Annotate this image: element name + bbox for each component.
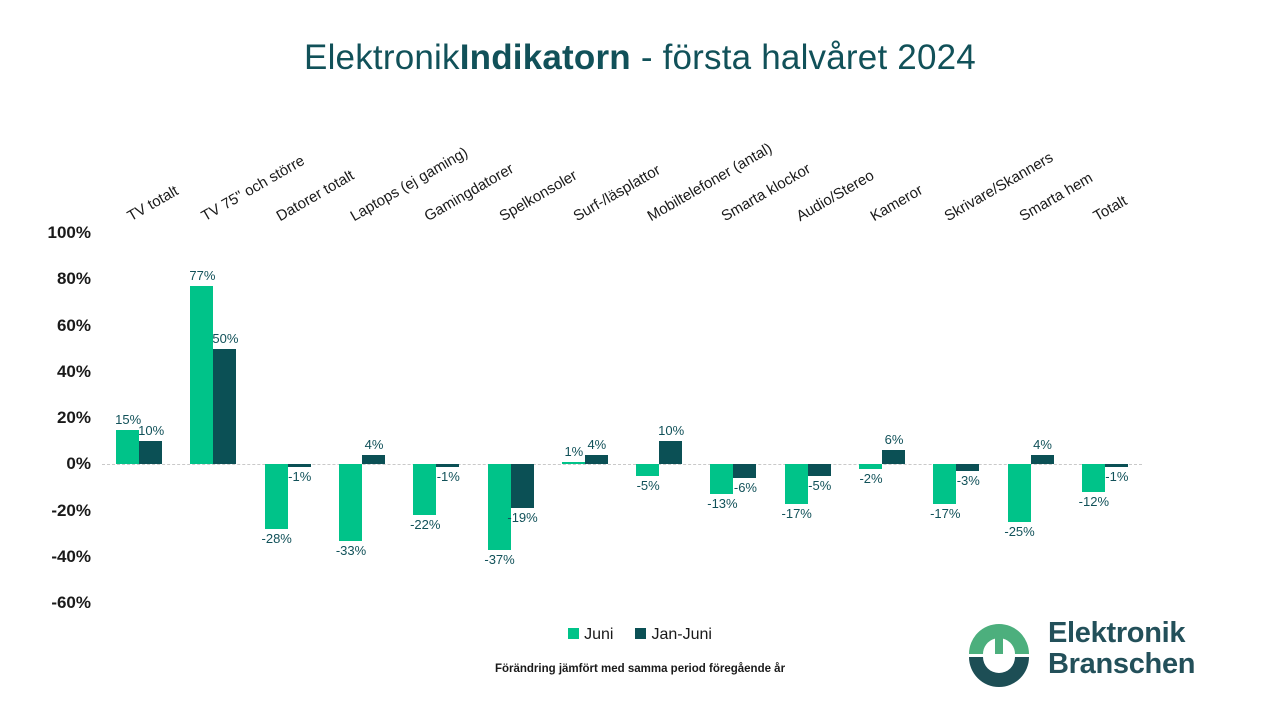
bar-group: -2%6% xyxy=(859,233,905,603)
bar-juni[interactable] xyxy=(1008,464,1031,522)
bar-value-label: 4% xyxy=(351,437,397,452)
bar-value-label: -1% xyxy=(1094,469,1140,484)
bar-value-label: -33% xyxy=(328,543,374,558)
bar-group: -37%-19% xyxy=(488,233,534,603)
bar-value-label: -17% xyxy=(922,506,968,521)
zero-baseline xyxy=(102,464,1142,465)
bar-jan-juni[interactable] xyxy=(139,441,162,464)
legend-swatch-icon xyxy=(635,628,646,639)
bar-value-label: 77% xyxy=(179,268,225,283)
bar-value-label: -17% xyxy=(774,506,820,521)
bar-group: -5%10% xyxy=(636,233,682,603)
bar-jan-juni[interactable] xyxy=(288,464,311,466)
y-axis-tick-label: -40% xyxy=(51,547,91,567)
chart-plot-area: 15%10%77%50%-28%-1%-33%4%-22%-1%-37%-19%… xyxy=(102,233,1142,603)
bar-value-label: -1% xyxy=(277,469,323,484)
bar-group: -17%-5% xyxy=(785,233,831,603)
logo-wordmark: Elektronik Branschen xyxy=(1048,618,1195,680)
bar-value-label: -37% xyxy=(477,552,523,567)
bar-value-label: 4% xyxy=(574,437,620,452)
bar-group: -17%-3% xyxy=(933,233,979,603)
bar-jan-juni[interactable] xyxy=(956,464,979,471)
logo-line-2: Branschen xyxy=(1048,649,1195,680)
bar-value-label: -28% xyxy=(254,531,300,546)
bar-value-label: -2% xyxy=(848,471,894,486)
bar-value-label: 50% xyxy=(202,331,248,346)
bar-juni[interactable] xyxy=(859,464,882,469)
bar-group: 1%4% xyxy=(562,233,608,603)
bar-group: -22%-1% xyxy=(413,233,459,603)
bar-jan-juni[interactable] xyxy=(511,464,534,508)
y-axis-tick-label: 100% xyxy=(48,223,91,243)
bar-value-label: -13% xyxy=(699,496,745,511)
bar-value-label: -22% xyxy=(402,517,448,532)
legend-item[interactable]: Jan-Juni xyxy=(635,626,711,644)
bar-value-label: -6% xyxy=(722,480,768,495)
y-axis-tick-label: 60% xyxy=(57,316,91,336)
bar-jan-juni[interactable] xyxy=(362,455,385,464)
y-axis-tick-label: -60% xyxy=(51,593,91,613)
bar-value-label: -12% xyxy=(1071,494,1117,509)
bar-value-label: 4% xyxy=(1020,437,1066,452)
bar-juni[interactable] xyxy=(488,464,511,550)
elektronikbranschen-logo-icon xyxy=(963,618,1035,690)
y-axis: 100%80%60%40%20%0%-20%-40%-60% xyxy=(0,233,95,603)
x-axis-category-label: Laptops (ej gaming) xyxy=(348,144,471,225)
bar-value-label: 10% xyxy=(648,423,694,438)
bar-group: -33%4% xyxy=(339,233,385,603)
bar-jan-juni[interactable] xyxy=(1031,455,1054,464)
bar-juni[interactable] xyxy=(339,464,362,540)
y-axis-tick-label: -20% xyxy=(51,501,91,521)
x-axis-category-label: Kameror xyxy=(868,182,926,225)
bar-juni[interactable] xyxy=(636,464,659,476)
bar-value-label: -19% xyxy=(500,510,546,525)
legend-label: Juni xyxy=(584,626,613,643)
bar-group: 15%10% xyxy=(116,233,162,603)
bar-value-label: -3% xyxy=(945,473,991,488)
bar-juni[interactable] xyxy=(562,462,585,464)
bar-jan-juni[interactable] xyxy=(733,464,756,478)
bar-group: -12%-1% xyxy=(1082,233,1128,603)
bar-jan-juni[interactable] xyxy=(808,464,831,476)
legend-swatch-icon xyxy=(568,628,579,639)
y-axis-tick-label: 0% xyxy=(66,454,91,474)
y-axis-tick-label: 40% xyxy=(57,362,91,382)
bar-value-label: 6% xyxy=(871,432,917,447)
bar-juni[interactable] xyxy=(190,286,213,464)
y-axis-tick-label: 80% xyxy=(57,269,91,289)
bar-group: 77%50% xyxy=(190,233,236,603)
bar-value-label: -1% xyxy=(425,469,471,484)
bar-jan-juni[interactable] xyxy=(659,441,682,464)
bar-group: -13%-6% xyxy=(710,233,756,603)
y-axis-tick-label: 20% xyxy=(57,408,91,428)
bar-group: -28%-1% xyxy=(265,233,311,603)
bar-jan-juni[interactable] xyxy=(213,349,236,465)
bar-jan-juni[interactable] xyxy=(1105,464,1128,466)
x-axis-category-label: Totalt xyxy=(1090,192,1130,225)
bar-value-label: 10% xyxy=(128,423,174,438)
bar-group: -25%4% xyxy=(1008,233,1054,603)
bar-jan-juni[interactable] xyxy=(436,464,459,466)
x-axis-category-label: Mobiltelefoner (antal) xyxy=(645,140,776,225)
bar-value-label: -5% xyxy=(797,478,843,493)
logo-line-1: Elektronik xyxy=(1048,618,1195,649)
legend-item[interactable]: Juni xyxy=(568,626,613,644)
bar-value-label: -5% xyxy=(625,478,671,493)
bar-jan-juni[interactable] xyxy=(585,455,608,464)
bar-value-label: -25% xyxy=(997,524,1043,539)
legend-label: Jan-Juni xyxy=(651,626,711,643)
x-axis-category-label: TV totalt xyxy=(125,182,182,225)
x-axis-category-labels: TV totaltTV 75" och störreDatorer totalt… xyxy=(102,0,1162,233)
brand-logo: Elektronik Branschen xyxy=(963,610,1233,695)
bar-jan-juni[interactable] xyxy=(882,450,905,464)
